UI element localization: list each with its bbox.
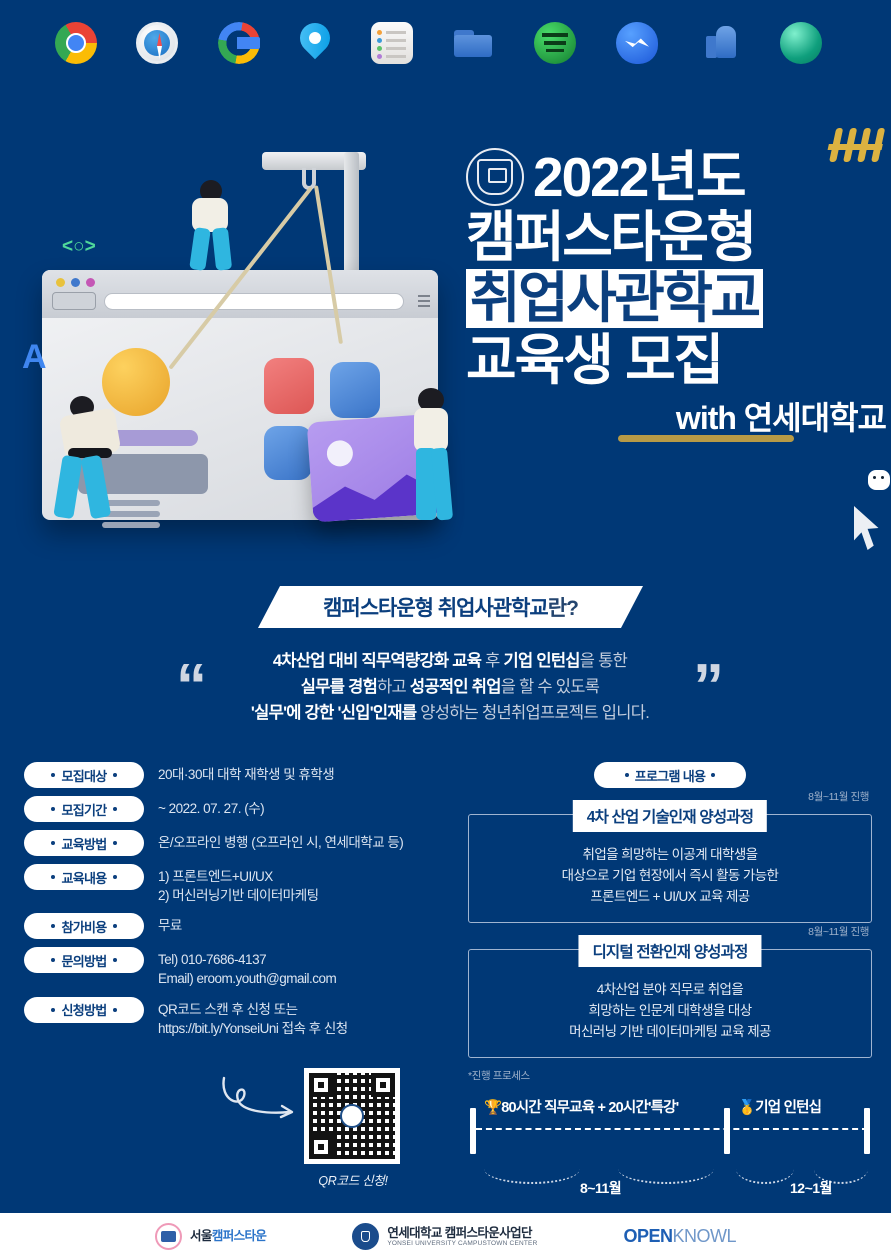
process-timeline: *진행 프로세스 🏆80시간 직무교육 + 20시간'특강' 🥇기업 인턴십 8… <box>468 1068 872 1091</box>
info-row-5: 참가비용무료 <box>24 913 444 939</box>
quote-close-mark: ” <box>693 662 724 712</box>
arc-left-2 <box>618 1154 714 1184</box>
info-label-3: 교육방법 <box>61 834 106 853</box>
info-pill-4: 교육내용 <box>24 864 144 890</box>
arc-left-1 <box>484 1154 580 1184</box>
pill-dot-right <box>711 773 715 777</box>
process-tick-start <box>470 1108 476 1154</box>
info-value-7: QR코드 스캔 후 신청 또는 https://bit.ly/YonseiUni… <box>158 997 348 1038</box>
program-body-2: 4차산업 분야 직무로 취업을 희망하는 인문계 대학생을 대상 머신러닝 기반… <box>479 980 861 1043</box>
info-row-1: 모집대상20대·30대 대학 재학생 및 휴학생 <box>24 762 444 788</box>
info-value-1: 20대·30대 대학 재학생 및 휴학생 <box>158 762 334 784</box>
pill-dot-left <box>51 807 55 811</box>
banner-strong-text: 캠퍼스타운형 취업사관학교 <box>323 592 548 622</box>
trophy-icon: 🏆 <box>484 1100 501 1116</box>
window-dot-purple <box>86 278 95 287</box>
browser-menu-icon <box>384 295 430 307</box>
quote-line-3: '실무'에 강한 '신입'인재를 양성하는 청년취업프로젝트 입니다. <box>170 700 730 726</box>
curved-arrow-decor <box>218 1074 298 1130</box>
info-row-7: 신청방법QR코드 스캔 후 신청 또는 https://bit.ly/Yonse… <box>24 997 444 1038</box>
openknowl-label-a: OPEN <box>623 1226 672 1246</box>
seoul-label-b: 캠퍼스타운 <box>212 1229 267 1243</box>
qr-eye-tr <box>371 1073 395 1097</box>
info-pill-3: 교육방법 <box>24 830 144 856</box>
program-pill-label: 프로그램 내용 <box>635 766 705 785</box>
yonsei-label-ko: 연세대학교 캠퍼스타운사업단 <box>387 1226 537 1240</box>
headline-line2: 캠퍼스타운형 <box>466 208 886 266</box>
quote-open-mark: “ <box>176 662 207 712</box>
letter-a-decor: A <box>22 338 47 377</box>
process-track: 🏆80시간 직무교육 + 20시간'특강' 🥇기업 인턴십 8~11월 12~1… <box>470 1108 870 1122</box>
seoul-campustown-label: 서울캠퍼스타운 <box>190 1229 266 1243</box>
program-date-2: 8월~11월 진행 <box>808 924 869 939</box>
arc-right-1 <box>736 1154 794 1184</box>
headline-line5: with 연세대학교 <box>466 393 886 439</box>
footer-logos: 서울캠퍼스타운 연세대학교 캠퍼스타운사업단 YONSEI UNIVERSITY… <box>0 1213 891 1260</box>
process-label: *진행 프로세스 <box>468 1068 872 1083</box>
program-pill: 프로그램 내용 <box>594 762 746 788</box>
yellow-sphere-shape <box>102 348 170 416</box>
seoul-campustown-logo: 서울캠퍼스타운 <box>155 1223 266 1250</box>
program-title-2: 디지털 전환인재 양성과정 <box>578 935 761 967</box>
info-row-6: 문의방법Tel) 010-7686-4137 Email) eroom.yout… <box>24 947 444 988</box>
pill-dot-left <box>625 773 629 777</box>
process-month-1: 8~11월 <box>580 1178 621 1198</box>
pill-dot-left <box>51 841 55 845</box>
info-label-1: 모집대상 <box>61 766 106 785</box>
blue-square-shape <box>330 362 380 418</box>
quote-line-2: 실무를 경험하고 성공적인 취업을 할 수 있도록 <box>170 674 730 700</box>
program-date-1: 8월~11월 진행 <box>808 789 869 804</box>
program-box-2: 8월~11월 진행디지털 전환인재 양성과정4차산업 분야 직무로 취업을 희망… <box>468 949 872 1058</box>
qr-eye-bl <box>309 1135 333 1159</box>
info-label-6: 문의방법 <box>61 951 106 970</box>
process-tick-end <box>864 1108 870 1154</box>
info-label-4: 교육내용 <box>61 868 106 887</box>
spotify-icon[interactable] <box>534 22 576 64</box>
pill-dot-right <box>113 1008 117 1012</box>
pill-dot-right <box>113 773 117 777</box>
pill-dot-left <box>51 773 55 777</box>
info-label-2: 모집기간 <box>61 800 106 819</box>
quote-line-1: 4차산업 대비 직무역량강화 교육 후 기업 인턴십을 통한 <box>170 648 730 674</box>
info-row-2: 모집기간~ 2022. 07. 27. (수) <box>24 796 444 822</box>
headline-year: 2022년도 <box>533 150 745 205</box>
crane-post-shape <box>344 152 359 280</box>
pill-dot-right <box>113 875 117 879</box>
safari-icon[interactable] <box>136 22 178 64</box>
qr-pattern <box>309 1073 395 1159</box>
yonsei-footer-seal-icon <box>352 1223 379 1250</box>
process-month-2: 12~1월 <box>790 1178 832 1198</box>
openknowl-logo: OPENKNOWL <box>623 1226 736 1247</box>
folder-icon[interactable] <box>452 22 494 64</box>
banner-light-text: 란? <box>548 592 578 622</box>
info-pill-2: 모집기간 <box>24 796 144 822</box>
openknowl-label-b: KNOWL <box>672 1226 736 1246</box>
info-pill-5: 참가비용 <box>24 913 144 939</box>
headline-univ-label: 연세대학교 <box>744 400 886 436</box>
info-value-3: 온/오프라인 병행 (오프라인 시, 연세대학교 등) <box>158 830 403 852</box>
headline-with-label: with <box>676 400 744 436</box>
gold-squiggle-decor <box>824 128 887 168</box>
info-value-5: 무료 <box>158 913 182 935</box>
window-dot-yellow <box>56 278 65 287</box>
search-glyph-decor: <○> <box>62 236 102 258</box>
pill-dot-right <box>113 841 117 845</box>
seoul-label-a: 서울 <box>190 1229 212 1243</box>
process-step-2: 🥇기업 인턴십 <box>738 1096 821 1117</box>
yonsei-campustown-label: 연세대학교 캠퍼스타운사업단 YONSEI UNIVERSITY CAMPUST… <box>387 1226 537 1248</box>
messenger-icon[interactable] <box>616 22 658 64</box>
gray-lines-shape <box>102 500 160 506</box>
qr-section: QR코드 신청! <box>304 1068 402 1189</box>
banner-text: 캠퍼스타운형 취업사관학교란? <box>258 586 643 628</box>
google-icon[interactable] <box>218 22 260 64</box>
info-pill-7: 신청방법 <box>24 997 144 1023</box>
process-dashed-line <box>476 1128 868 1130</box>
pill-dot-left <box>51 875 55 879</box>
window-dot-blue <box>71 278 80 287</box>
yonsei-campustown-center-logo: 연세대학교 캠퍼스타운사업단 YONSEI UNIVERSITY CAMPUST… <box>352 1223 537 1250</box>
qr-eye-tl <box>309 1073 333 1097</box>
program-box-1: 8월~11월 진행4차 산업 기술인재 양성과정취업을 희망하는 이공계 대학생… <box>468 814 872 923</box>
recruitment-info-list: 모집대상20대·30대 대학 재학생 및 휴학생모집기간~ 2022. 07. … <box>24 762 444 1046</box>
info-pill-6: 문의방법 <box>24 947 144 973</box>
program-boxes: 8월~11월 진행4차 산업 기술인재 양성과정취업을 희망하는 이공계 대학생… <box>468 814 872 1058</box>
headline-line4: 교육생 모집 <box>466 331 886 389</box>
info-row-4: 교육내용1) 프론트엔드+UI/UX 2) 머신러닝기반 데이터마케팅 <box>24 864 444 905</box>
headline-line3: 취업사관학교 <box>466 269 763 327</box>
browser-address-bar <box>104 293 404 310</box>
reminders-list-icon[interactable] <box>371 22 413 64</box>
gold-underline-decor <box>618 435 794 442</box>
maps-pin-icon[interactable] <box>294 22 336 64</box>
pill-dot-right <box>113 958 117 962</box>
qr-caption: QR코드 신청! <box>304 1170 402 1189</box>
headline-block: 2022년도 캠퍼스타운형 취업사관학교 교육생 모집 with 연세대학교 <box>466 148 886 439</box>
info-pill-1: 모집대상 <box>24 762 144 788</box>
pill-dot-right <box>113 807 117 811</box>
program-title-1: 4차 산업 기술인재 양성과정 <box>573 800 767 832</box>
poster-root: <○> A 2022년도 캠퍼스타운형 취업사관학교 교육생 모집 with 연… <box>0 0 891 1260</box>
yonsei-university-seal-icon <box>466 148 524 206</box>
program-section: 프로그램 내용 8월~11월 진행4차 산업 기술인재 양성과정취업을 희망하는… <box>468 762 872 1058</box>
app-icon-dock <box>0 0 891 84</box>
seoul-campustown-seal-icon <box>155 1223 182 1250</box>
info-row-3: 교육방법온/오프라인 병행 (오프라인 시, 연세대학교 등) <box>24 830 444 856</box>
info-value-4: 1) 프론트엔드+UI/UX 2) 머신러닝기반 데이터마케팅 <box>158 864 319 905</box>
pill-dot-right <box>113 924 117 928</box>
section-banner: 캠퍼스타운형 취업사관학교란? <box>258 586 643 628</box>
hero-illustration: <○> A <box>14 150 464 550</box>
pill-dot-left <box>51 958 55 962</box>
pill-dot-left <box>51 1008 55 1012</box>
process-step-2-label: 기업 인턴십 <box>755 1100 821 1116</box>
chrome-icon[interactable] <box>55 22 97 64</box>
info-value-2: ~ 2022. 07. 27. (수) <box>158 796 264 818</box>
mouse-cursor-icon <box>854 506 888 550</box>
qr-center-logo <box>340 1104 364 1128</box>
openknowl-label: OPENKNOWL <box>623 1226 736 1247</box>
qr-code-image[interactable] <box>304 1068 400 1164</box>
medal-icon: 🥇 <box>738 1100 755 1116</box>
thumbs-up-icon[interactable] <box>698 22 740 64</box>
process-step-1: 🏆80시간 직무교육 + 20시간'특강' <box>484 1096 678 1117</box>
program-body-1: 취업을 희망하는 이공계 대학생을 대상으로 기업 현장에서 즉시 활동 가능한… <box>479 845 861 908</box>
process-step-1-label: 80시간 직무교육 + 20시간'특강' <box>501 1100 678 1116</box>
yonsei-label-en: YONSEI UNIVERSITY CAMPUSTOWN CENTER <box>387 1240 537 1247</box>
browser-nav-buttons <box>52 292 96 310</box>
quote-lines: 4차산업 대비 직무역량강화 교육 후 기업 인턴십을 통한실무를 경험하고 성… <box>170 648 730 726</box>
info-label-7: 신청방법 <box>61 1000 106 1019</box>
pill-dot-left <box>51 924 55 928</box>
info-value-6: Tel) 010-7686-4137 Email) eroom.youth@gm… <box>158 947 336 988</box>
quote-block: “ ” 4차산업 대비 직무역량강화 교육 후 기업 인턴십을 통한실무를 경험… <box>170 648 730 726</box>
process-tick-mid <box>724 1108 730 1154</box>
blue-square-shape-2 <box>264 426 312 480</box>
smiley-face-decor <box>868 470 890 490</box>
red-square-shape <box>264 358 314 414</box>
green-sphere-icon[interactable] <box>780 22 822 64</box>
info-label-5: 참가비용 <box>61 917 106 936</box>
